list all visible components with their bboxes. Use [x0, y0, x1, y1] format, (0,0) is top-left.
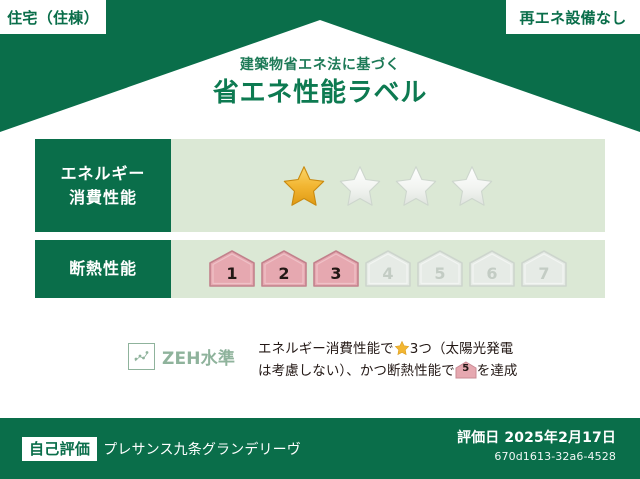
footer-right: 評価日 2025年2月17日 670d1613-32a6-4528	[457, 427, 616, 463]
grade-scale: 1234567	[208, 249, 568, 289]
grade-chip-2: 2	[260, 249, 308, 289]
grade-chip-4: 4	[364, 249, 412, 289]
row-insulation-performance: 断熱性能 1234567	[35, 240, 605, 298]
page-title-block: 建築物省エネ法に基づく 省エネ性能ラベル	[0, 58, 640, 108]
row-energy-label-line1: エネルギー	[61, 162, 146, 185]
zeh-description-line2: は考慮しない）、かつ断熱性能で5を達成	[258, 360, 517, 382]
grade-chip-number: 2	[278, 266, 289, 289]
row-insulation-label-line1: 断熱性能	[69, 257, 137, 280]
grade-chip-number: 4	[382, 266, 393, 289]
self-evaluation-badge: 自己評価	[22, 437, 97, 461]
tag-renewable-energy: 再エネ設備なし	[506, 0, 640, 34]
grade-chip-1: 1	[208, 249, 256, 289]
tag-renewable-energy-label: 再エネ設備なし	[519, 7, 626, 28]
row-energy-consumption: エネルギー 消費性能	[35, 139, 605, 232]
zeh-badge: ZEH水準	[128, 338, 235, 370]
grade-chip-6: 6	[468, 249, 516, 289]
zeh-description-line1: エネルギー消費性能で3つ（太陽光発電	[258, 338, 517, 360]
inline-grade-number: 5	[455, 361, 477, 379]
footer-left: 自己評価 プレサンス九条グランデリーヴ	[22, 437, 301, 461]
page-title: 省エネ性能ラベル	[0, 79, 640, 108]
energy-performance-label: 住宅（住棟） 再エネ設備なし 建築物省エネ法に基づく 省エネ性能ラベル エネルギ…	[0, 0, 640, 479]
star-filled-icon	[281, 164, 327, 208]
row-energy-consumption-value	[171, 139, 605, 232]
evaluation-date: 評価日 2025年2月17日	[457, 427, 616, 447]
grade-chip-number: 6	[486, 266, 497, 289]
grade-chip-number: 1	[226, 266, 237, 289]
zeh-desc-line2-post: を達成	[477, 363, 518, 379]
inline-grade-house-icon: 5	[455, 361, 477, 379]
star-empty-icon	[337, 164, 383, 208]
grade-chip-number: 7	[538, 266, 549, 289]
row-insulation-performance-label: 断熱性能	[35, 240, 171, 298]
grade-chip-3: 3	[312, 249, 360, 289]
grade-chip-number: 5	[434, 266, 445, 289]
zeh-desc-line1-post: 3つ（太陽光発電	[410, 341, 514, 357]
zeh-description: エネルギー消費性能で3つ（太陽光発電 は考慮しない）、かつ断熱性能で5を達成	[258, 338, 517, 383]
zeh-dots-icon	[128, 343, 155, 370]
zeh-desc-line2-pre: は考慮しない）、かつ断熱性能で	[258, 363, 455, 379]
performance-rows: エネルギー 消費性能 断熱性能 1234567	[35, 139, 605, 298]
tag-building-type: 住宅（住棟）	[0, 0, 106, 34]
star-empty-icon	[393, 164, 439, 208]
evaluation-id: 670d1613-32a6-4528	[457, 450, 616, 463]
zeh-note: ZEH水準 エネルギー消費性能で3つ（太陽光発電 は考慮しない）、かつ断熱性能で…	[128, 338, 518, 383]
inline-star-icon	[394, 340, 410, 356]
tag-building-type-label: 住宅（住棟）	[7, 7, 99, 28]
row-energy-consumption-label: エネルギー 消費性能	[35, 139, 171, 232]
zeh-badge-label: ZEH水準	[162, 344, 235, 369]
project-name: プレサンス九条グランデリーヴ	[103, 439, 301, 459]
page-subtitle: 建築物省エネ法に基づく	[0, 58, 640, 73]
grade-chip-number: 3	[330, 266, 341, 289]
row-insulation-performance-value: 1234567	[171, 240, 605, 298]
star-rating	[281, 164, 495, 208]
grade-chip-7: 7	[520, 249, 568, 289]
grade-chip-5: 5	[416, 249, 464, 289]
row-energy-label-line2: 消費性能	[69, 186, 137, 209]
star-empty-icon	[449, 164, 495, 208]
zeh-desc-line1-pre: エネルギー消費性能で	[258, 341, 394, 357]
